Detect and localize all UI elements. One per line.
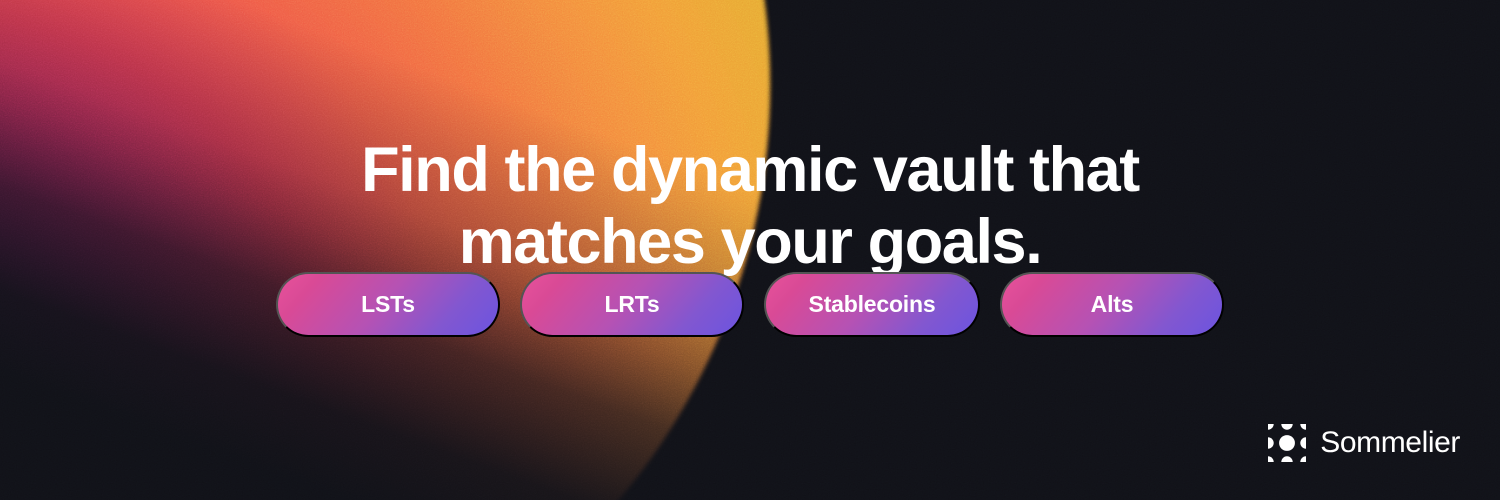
filter-pill-row: LSTs LRTs Stablecoins Alts [0,272,1500,337]
filter-pill-stablecoins[interactable]: Stablecoins [764,272,980,337]
promo-banner: Find the dynamic vault that matches your… [0,0,1500,500]
filter-pill-alts[interactable]: Alts [1000,272,1224,337]
page-title: Find the dynamic vault that matches your… [0,134,1500,278]
filter-pill-lrts[interactable]: LRTs [520,272,744,337]
brand-wordmark: Sommelier [1320,428,1460,458]
brand-logo[interactable]: Sommelier [1268,424,1460,462]
sommelier-dot-grid-icon [1268,424,1306,462]
filter-pill-lsts[interactable]: LSTs [276,272,500,337]
